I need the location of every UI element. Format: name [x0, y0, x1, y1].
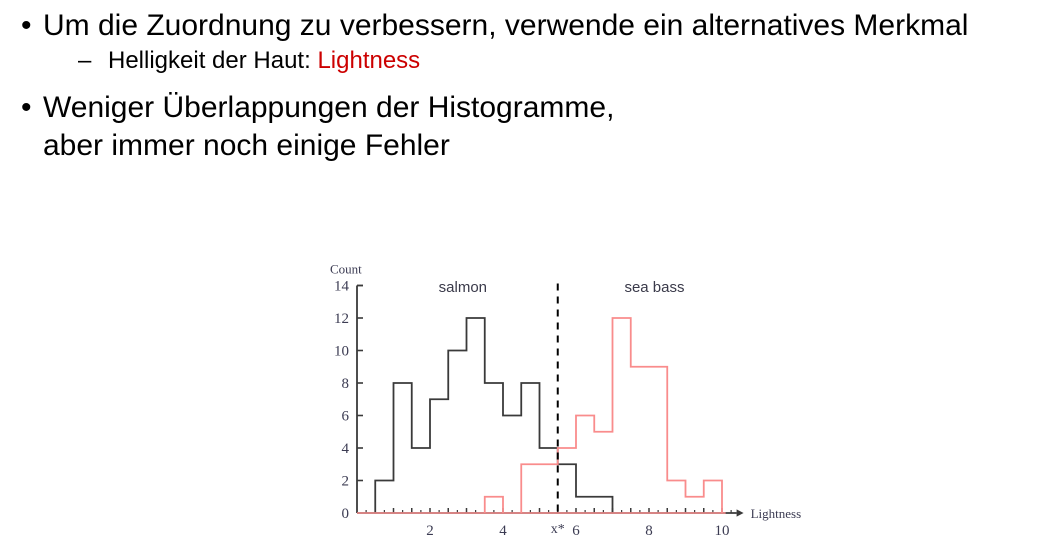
bullet-item-3: • Weniger Überlappungen der Histogramme,… — [0, 89, 1043, 165]
x-axis-title: Lightness — [751, 506, 802, 521]
bullet-marker-dot: • — [21, 7, 32, 45]
keyword-lightness: Lightness — [317, 47, 420, 74]
bullet-marker-dot: • — [21, 89, 32, 127]
x-axis-tick-label: 6 — [572, 523, 580, 539]
y-axis-tick-label: 14 — [334, 279, 350, 295]
histogram-figure: 02468101214Count246810Lightnessx*salmons… — [318, 248, 818, 548]
x-axis-arrowhead — [737, 509, 744, 516]
series-label-seabass: sea bass — [624, 279, 684, 296]
bullet-marker-dash: – — [78, 45, 91, 77]
series-label-salmon: salmon — [439, 279, 487, 296]
bullet-text-3-line1: Weniger Überlappungen der Histogramme, — [43, 91, 614, 124]
threshold-label: x* — [551, 522, 565, 537]
bullet-text-1: Um die Zuordnung zu verbessern, verwende… — [43, 9, 968, 42]
y-axis-tick-label: 6 — [342, 409, 350, 425]
y-axis-tick-label: 10 — [334, 344, 349, 360]
bullet-item-1: • Um die Zuordnung zu verbessern, verwen… — [0, 7, 1059, 45]
x-axis-tick-label: 2 — [426, 523, 434, 539]
bullet-text-3-line2: aber immer noch einige Fehler — [43, 129, 450, 162]
x-axis-tick-label: 8 — [645, 523, 653, 539]
x-axis-tick-label: 10 — [715, 523, 730, 539]
y-axis-tick-label: 2 — [342, 474, 350, 490]
x-axis-tick-label: 4 — [499, 523, 507, 539]
y-axis-title: Count — [330, 262, 362, 277]
bullet-text-2: Helligkeit der Haut: — [108, 47, 317, 74]
y-axis-tick-label: 8 — [342, 376, 350, 392]
histogram-chart: 02468101214Count246810Lightnessx*salmons… — [318, 248, 818, 548]
y-axis-tick-label: 12 — [334, 311, 349, 327]
y-axis-tick-label: 4 — [342, 441, 350, 457]
bullet-item-2: – Helligkeit der Haut: Lightness — [0, 45, 1059, 77]
y-axis-tick-label: 0 — [342, 506, 350, 522]
